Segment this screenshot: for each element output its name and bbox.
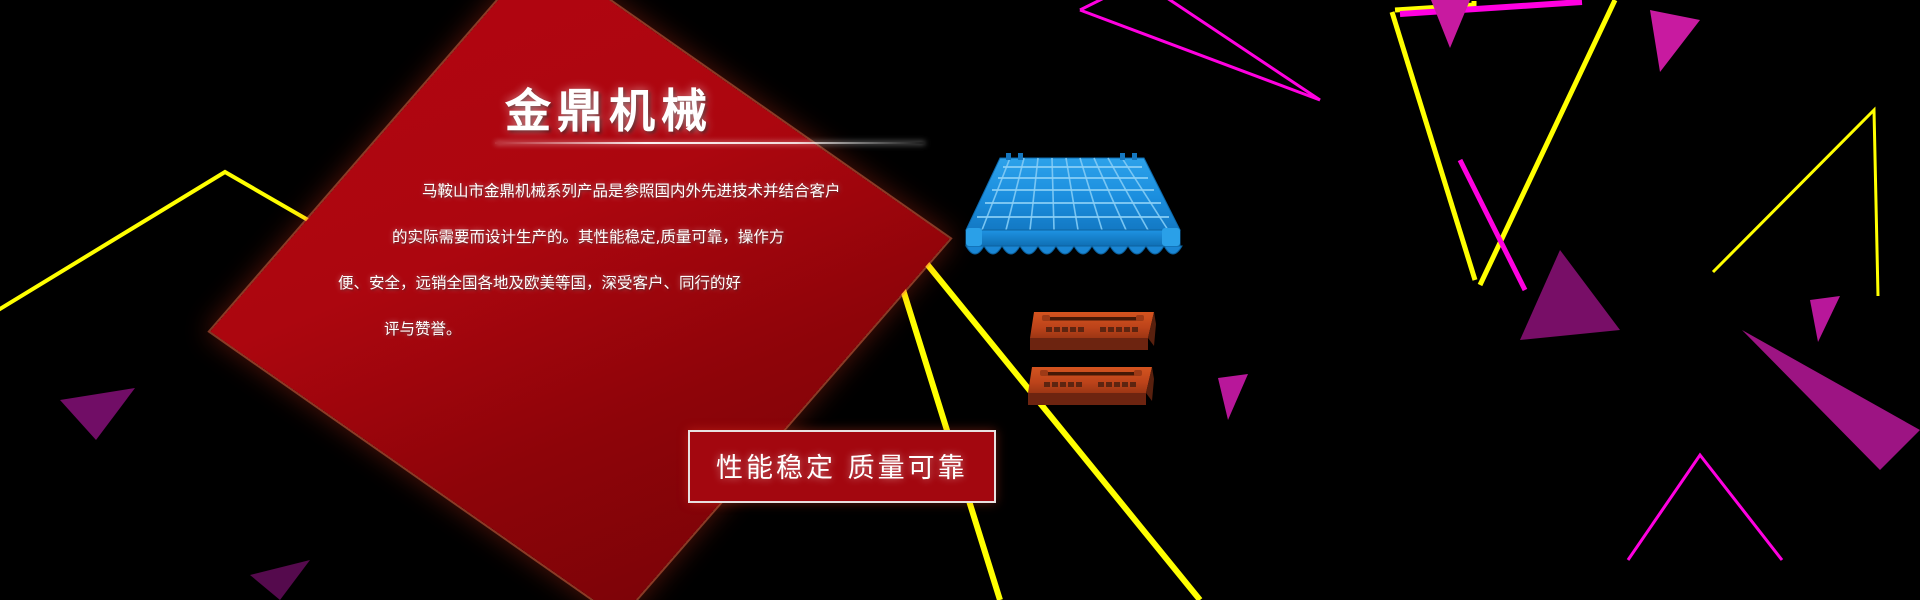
solid-triangle-right-large xyxy=(1742,330,1920,470)
intro-line-2: 的实际需要而设计生产的。其性能稳定,质量可靠，操作方 xyxy=(392,214,920,260)
slogan-text: 性能稳定 质量可靠 xyxy=(716,446,968,485)
intro-line-3: 便、安全，远销全国各地及欧美等国，深受客户、同行的好 xyxy=(338,260,920,306)
solid-triangle-right xyxy=(1810,296,1840,342)
slogan-box: 性能稳定 质量可靠 xyxy=(688,430,996,503)
solid-triangle-mid xyxy=(1218,374,1248,420)
magenta-triangle-upper-base xyxy=(1080,10,1320,100)
title-divider xyxy=(495,142,925,144)
promo-banner: 金鼎机械 马鞍山市金鼎机械系列产品是参照国内外先进技术并结合客户 的实际需要而设… xyxy=(0,0,1920,600)
magenta-inner-leg xyxy=(1460,160,1525,290)
orange-jaw-illustration-1 xyxy=(1028,308,1160,358)
magenta-top-bar xyxy=(1400,2,1582,14)
product-orange-jaw-plate-upper xyxy=(1028,308,1160,352)
neon-triangle-decorations xyxy=(0,0,1920,600)
solid-triangle-bottom-left xyxy=(60,388,135,440)
yellow-triangle-top-edge xyxy=(1395,1,1474,10)
magenta-triangle-upper xyxy=(1080,0,1320,100)
solid-triangle-top-2 xyxy=(1650,10,1700,72)
blue-grate-illustration xyxy=(948,140,1194,270)
yellow-triangle-right xyxy=(1713,110,1878,296)
solid-triangle-bottom-left-2 xyxy=(250,560,310,600)
yellow-triangle-right-leg xyxy=(1480,0,1615,285)
intro-line-4: 评与赞誉。 xyxy=(384,306,920,352)
intro-line-1: 马鞍山市金鼎机械系列产品是参照国内外先进技术并结合客户 xyxy=(422,168,920,214)
solid-triangle-center-right xyxy=(1520,250,1620,340)
orange-jaw-illustration-2 xyxy=(1026,363,1158,413)
intro-paragraph: 马鞍山市金鼎机械系列产品是参照国内外先进技术并结合客户 的实际需要而设计生产的。… xyxy=(400,168,920,352)
magenta-triangle-bottom-right xyxy=(1628,455,1782,560)
solid-triangle-top-1 xyxy=(1431,0,1470,48)
yellow-triangle-left-leg xyxy=(1392,12,1475,280)
product-orange-jaw-plate-lower xyxy=(1026,363,1158,407)
brand-title: 金鼎机械 xyxy=(505,75,713,141)
product-blue-grate-plate xyxy=(948,140,1194,270)
